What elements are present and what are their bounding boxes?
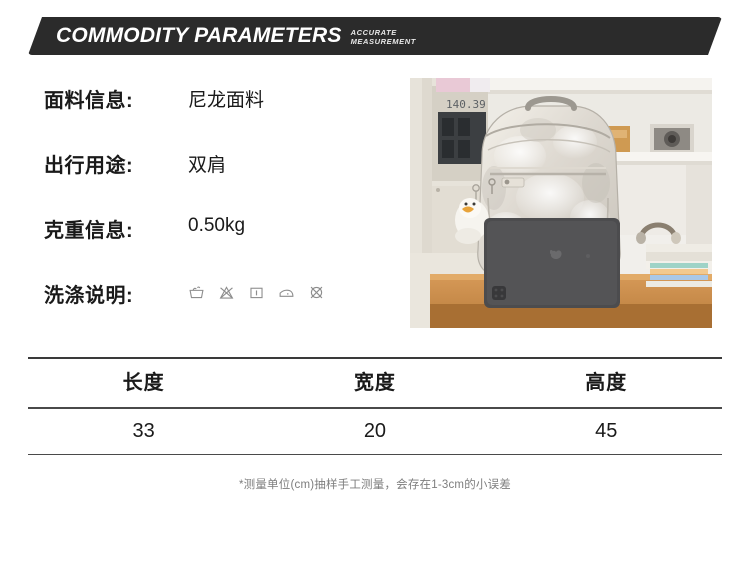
spec-label-weight: 克重信息: <box>44 214 188 243</box>
hand-wash-icon <box>188 284 205 301</box>
spec-label-care: 洗涤说明: <box>44 279 188 308</box>
header-subtitle: ACCURATE MEASUREMENT <box>351 26 416 47</box>
table-value-height: 45 <box>491 409 722 454</box>
dimension-table: 长度 宽度 高度 33 20 45 <box>28 357 722 455</box>
spec-row-usage: 出行用途: 双肩 <box>44 149 374 214</box>
no-dry-clean-icon <box>308 284 325 301</box>
table-header-height: 高度 <box>491 359 722 407</box>
spec-row-weight: 克重信息: 0.50kg <box>44 214 374 279</box>
spec-label-usage: 出行用途: <box>44 149 188 178</box>
table-value-row: 33 20 45 <box>28 409 722 454</box>
product-photo: 140.39 <box>410 78 712 328</box>
measurement-note: *测量单位(cm)抽样手工测量，会存在1-3cm的小误差 <box>0 476 750 492</box>
spec-row-care: 洗涤说明: <box>44 279 374 344</box>
no-bleach-icon <box>218 284 235 301</box>
spec-value-weight: 0.50kg <box>188 214 245 237</box>
spec-list: 面料信息: 尼龙面料 出行用途: 双肩 克重信息: 0.50kg 洗涤说明: <box>44 84 374 344</box>
spec-label-fabric: 面料信息: <box>44 84 188 113</box>
header-subtitle-line2: MEASUREMENT <box>351 37 416 47</box>
spec-row-fabric: 面料信息: 尼龙面料 <box>44 84 374 149</box>
iron-icon <box>278 284 295 301</box>
table-rule-bottom <box>28 454 722 456</box>
header-banner-content: COMMODITY PARAMETERS ACCURATE MEASUREMEN… <box>56 17 416 55</box>
spec-value-fabric: 尼龙面料 <box>188 84 264 112</box>
care-symbol-list <box>188 279 325 301</box>
header-subtitle-line1: ACCURATE <box>351 28 416 38</box>
table-value-width: 20 <box>259 409 490 454</box>
table-header-width: 宽度 <box>259 359 490 407</box>
table-header-row: 长度 宽度 高度 <box>28 359 722 407</box>
table-header-length: 长度 <box>28 359 259 407</box>
table-value-length: 33 <box>28 409 259 454</box>
page-title: COMMODITY PARAMETERS <box>56 24 342 48</box>
tumble-dry-icon <box>248 284 265 301</box>
spec-value-usage: 双肩 <box>188 149 226 177</box>
svg-text:140.39: 140.39 <box>446 98 486 111</box>
